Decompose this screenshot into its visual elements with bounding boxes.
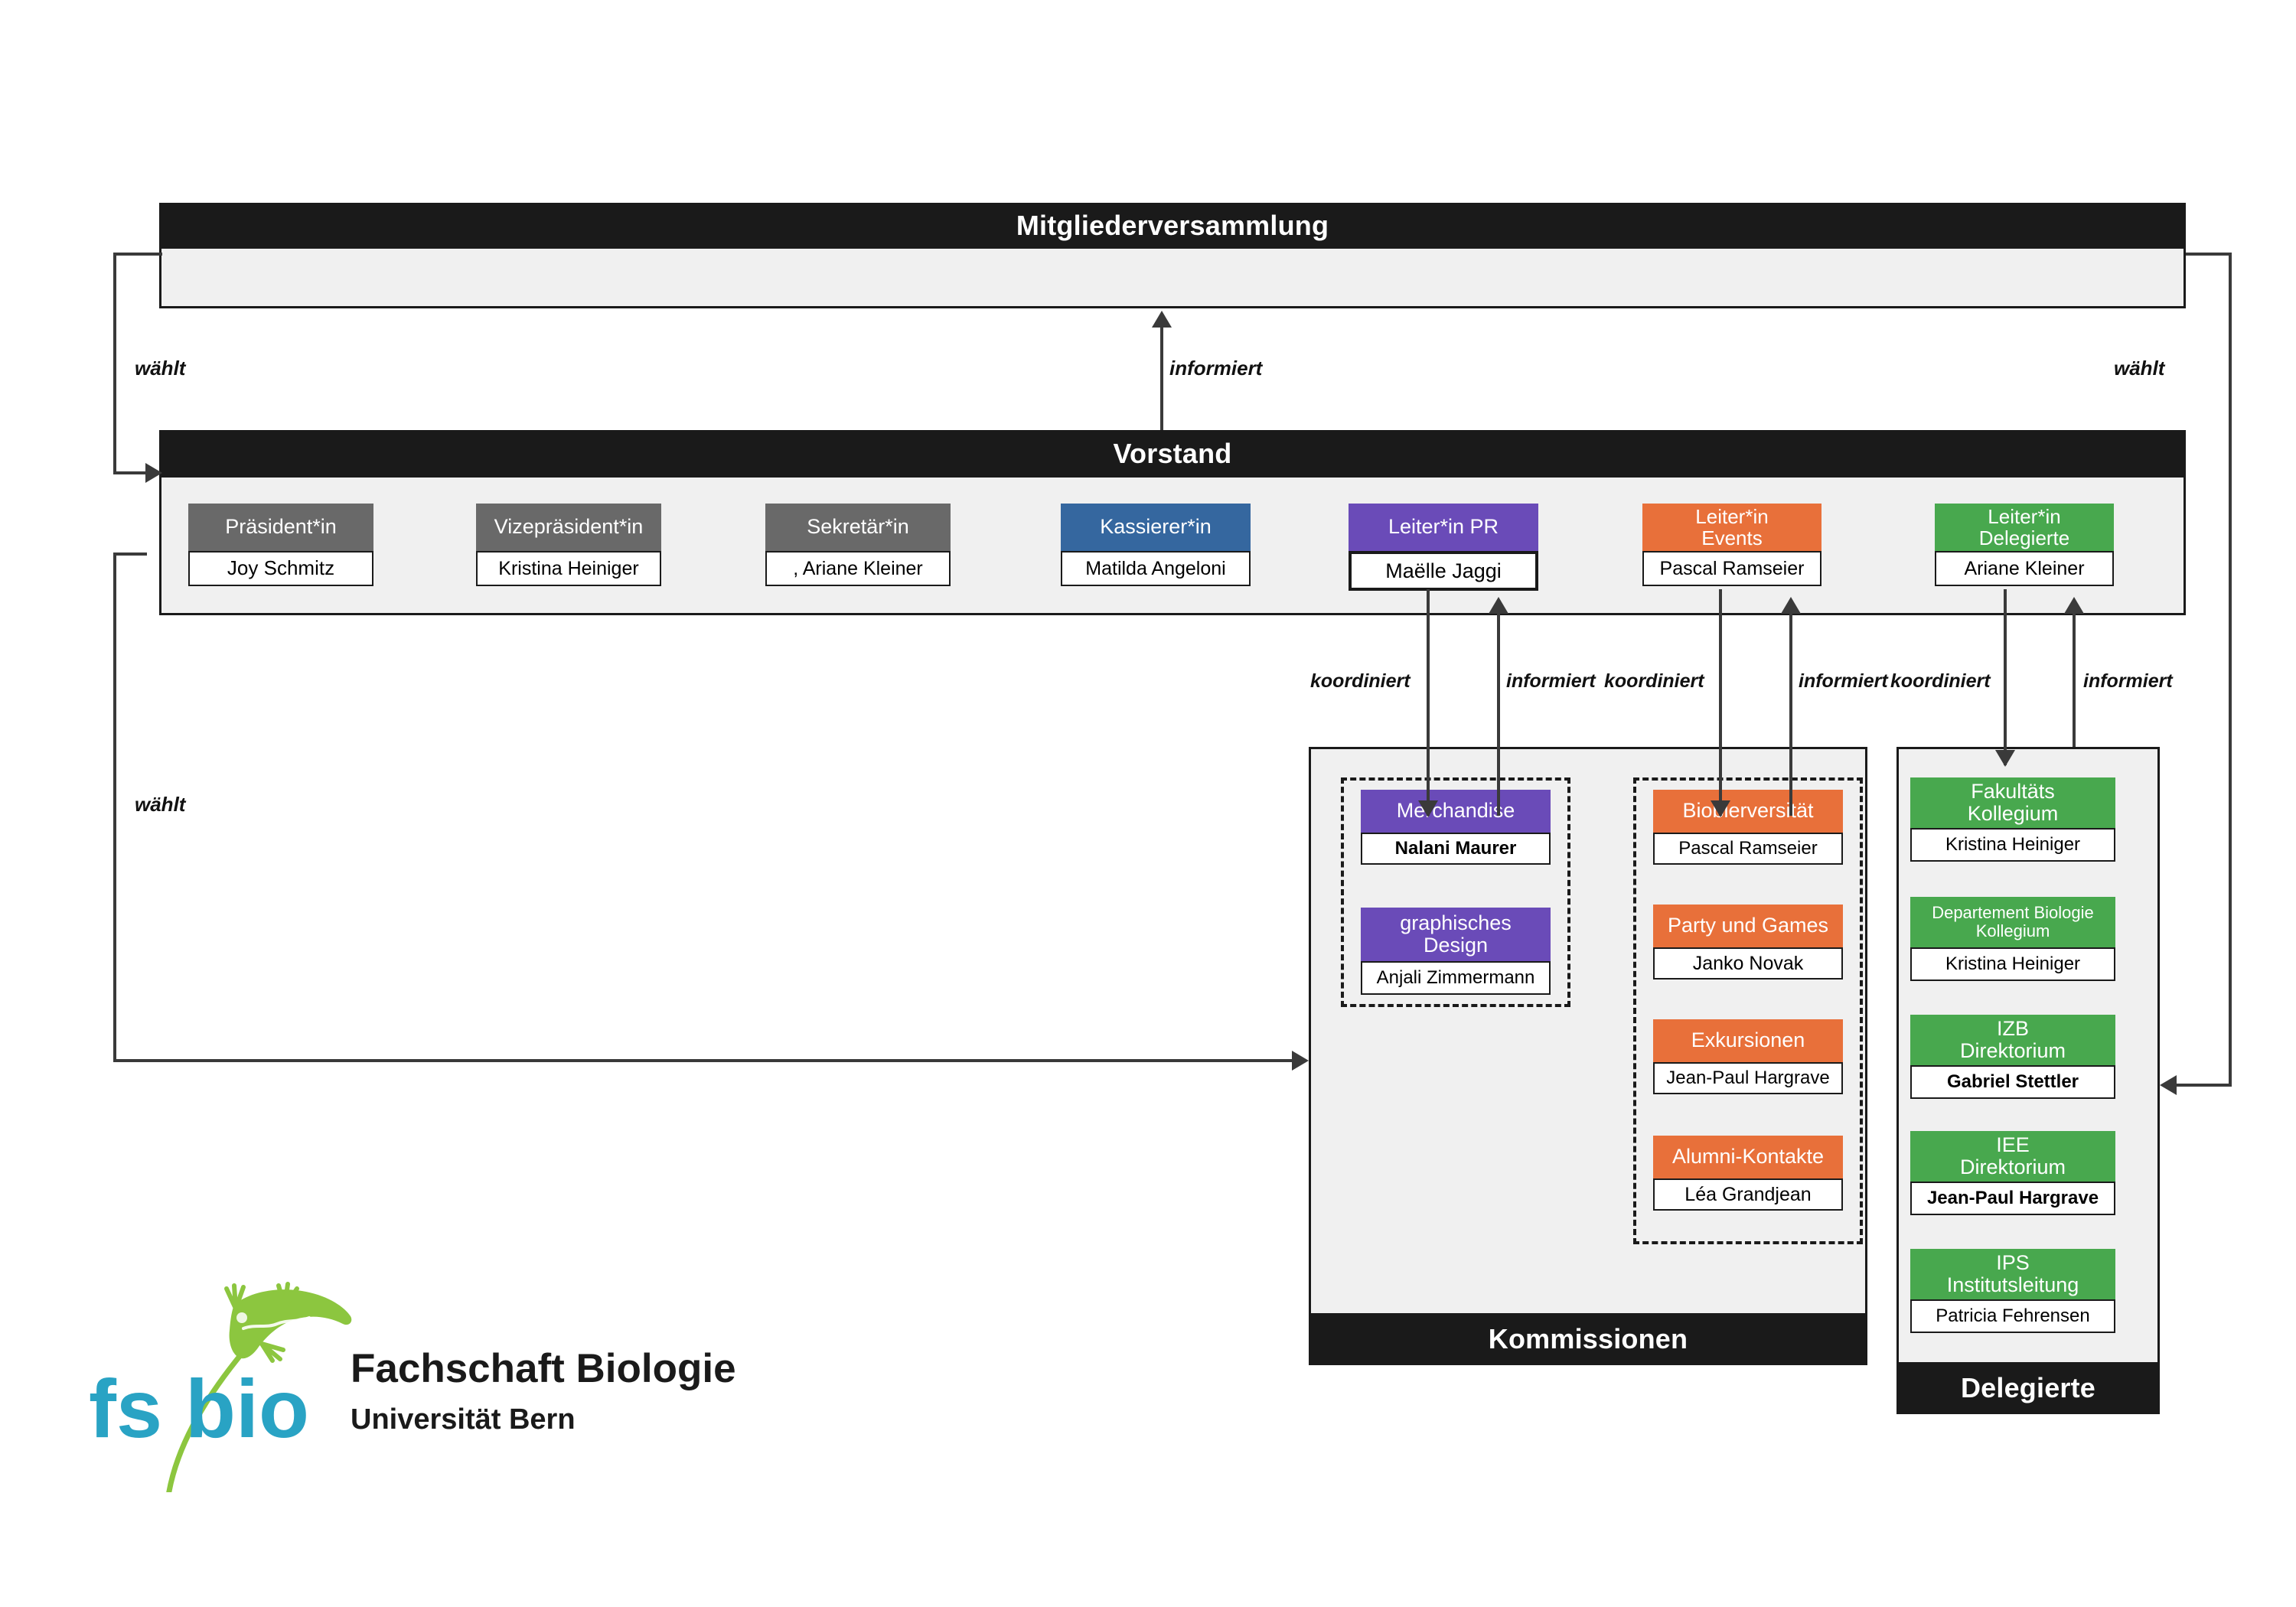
edge-informiert-top-arrow — [1152, 311, 1172, 328]
role-label: Exkursionen — [1653, 1019, 1843, 1062]
role-label: Leiter*in PR — [1349, 504, 1538, 551]
edge-label-waehlt-left-top: wählt — [135, 357, 185, 380]
person-name: Kristina Heiniger — [1910, 828, 2115, 862]
edge-label-waehlt-right: wählt — [2114, 357, 2164, 380]
person-name: Gabriel Stettler — [1910, 1065, 2115, 1099]
commission-graphic-design[interactable]: graphisches Design Anjali Zimmermann — [1361, 908, 1551, 995]
edge-label-informiert-top: informiert — [1169, 357, 1262, 380]
commission-party-und-games[interactable]: Party und Games Janko Novak — [1653, 905, 1843, 980]
edge-waehlt-bottom-seg-v — [113, 553, 116, 1062]
assembly-title: Mitgliederversammlung — [1016, 210, 1329, 242]
person-name: Jean-Paul Hargrave — [1653, 1062, 1843, 1094]
edge-informiert-pr-line — [1497, 612, 1500, 816]
edge-label-koordiniert-events: koordiniert — [1604, 670, 1704, 693]
edge-label-waehlt-bottom: wählt — [135, 793, 185, 817]
gecko-logo-icon: fs bio — [84, 1263, 375, 1492]
person-name: Ariane Kleiner — [1935, 551, 2114, 586]
person-name: Pascal Ramseier — [1653, 833, 1843, 865]
edge-waehlt-right-seg-h1 — [2186, 253, 2232, 256]
delegate-izb-direktorium[interactable]: IZB Direktorium Gabriel Stettler — [1910, 1015, 2115, 1099]
edge-waehlt-bottom-seg-h2 — [113, 1059, 1293, 1062]
edge-informiert-top-seg-v — [1160, 328, 1163, 430]
commissions-header: Kommissionen — [1309, 1313, 1867, 1365]
edge-waehlt-right-seg-h2 — [2177, 1084, 2232, 1087]
board-header: Vorstand — [159, 430, 2186, 478]
person-name: Janko Novak — [1653, 947, 1843, 980]
assembly-header: Mitgliederversammlung — [159, 203, 2186, 249]
edge-koordiniert-events-line — [1719, 589, 1722, 816]
person-name: Patricia Fehrensen — [1910, 1299, 2115, 1333]
edge-informiert-events-arrow — [1781, 597, 1801, 614]
board-member-pr-lead[interactable]: Leiter*in PR Maëlle Jaggi — [1349, 504, 1538, 586]
edge-informiert-pr-arrow — [1489, 597, 1508, 614]
role-label: Party und Games — [1653, 905, 1843, 947]
person-name: Pascal Ramseier — [1642, 551, 1821, 586]
delegate-departement-biologie-kollegium[interactable]: Departement Biologie Kollegium Kristina … — [1910, 897, 2115, 981]
fs-bio-logo: fs bio — [84, 1263, 375, 1492]
edge-koordiniert-pr-line — [1427, 589, 1430, 816]
board-member-events-lead[interactable]: Leiter*in Events Pascal Ramseier — [1642, 504, 1821, 586]
commission-alumni-kontakte[interactable]: Alumni-Kontakte Léa Grandjean — [1653, 1136, 1843, 1211]
delegate-fakultaets-kollegium[interactable]: Fakultäts Kollegium Kristina Heiniger — [1910, 777, 2115, 862]
board-member-secretary[interactable]: Sekretär*in , Ariane Kleiner — [765, 504, 951, 586]
role-label: graphisches Design — [1361, 908, 1551, 961]
role-label: Präsident*in — [188, 504, 373, 551]
role-label: Kassierer*in — [1061, 504, 1251, 551]
role-label: Alumni-Kontakte — [1653, 1136, 1843, 1178]
logo-org-name: Fachschaft Biologie — [351, 1345, 736, 1392]
edge-label-koordiniert-pr: koordiniert — [1310, 670, 1411, 693]
logo-wordmark: fs bio — [89, 1362, 309, 1455]
edge-informiert-events-line — [1789, 612, 1792, 816]
edge-waehlt-left-top-seg-h1 — [113, 253, 162, 256]
role-label: Leiter*in Delegierte — [1935, 504, 2114, 551]
person-name: Joy Schmitz — [188, 551, 373, 586]
edge-waehlt-right-seg-v — [2229, 253, 2232, 1087]
edge-label-informiert-delegates: informiert — [2083, 670, 2173, 693]
role-label: Departement Biologie Kollegium — [1910, 897, 2115, 947]
role-label: Fakultäts Kollegium — [1910, 777, 2115, 828]
edge-waehlt-bottom-arrow — [1292, 1051, 1309, 1071]
edge-koordiniert-delegates-line — [2004, 589, 2007, 765]
person-name: Kristina Heiniger — [1910, 947, 2115, 981]
role-label: Merchandise — [1361, 790, 1551, 833]
edge-koordiniert-pr-arrow — [1418, 800, 1438, 817]
edge-label-informiert-pr: informiert — [1506, 670, 1596, 693]
edge-waehlt-right-arrow — [2160, 1075, 2177, 1095]
edge-waehlt-bottom-seg-h1 — [113, 553, 147, 556]
commission-exkursionen[interactable]: Exkursionen Jean-Paul Hargrave — [1653, 1019, 1843, 1094]
logo-org-subtitle: Universität Bern — [351, 1403, 576, 1436]
edge-koordiniert-delegates-arrow — [1995, 750, 2015, 767]
role-label: Sekretär*in — [765, 504, 951, 551]
commission-biobierversitaet[interactable]: Biobierversität Pascal Ramseier — [1653, 790, 1843, 865]
role-label: IPS Institutsleitung — [1910, 1249, 2115, 1299]
commissions-title: Kommissionen — [1489, 1323, 1688, 1355]
person-name: Nalani Maurer — [1361, 833, 1551, 865]
edge-informiert-delegates-arrow — [2064, 597, 2084, 614]
edge-label-koordiniert-delegates: koordiniert — [1890, 670, 1991, 693]
person-name: Matilda Angeloni — [1061, 551, 1251, 586]
delegate-iee-direktorium[interactable]: IEE Direktorium Jean-Paul Hargrave — [1910, 1131, 2115, 1215]
person-name: Maëlle Jaggi — [1349, 551, 1538, 591]
edge-label-informiert-events: informiert — [1799, 670, 1888, 693]
edge-waehlt-left-top-seg-h2 — [113, 471, 147, 474]
assembly-body — [159, 249, 2186, 308]
board-member-delegates-lead[interactable]: Leiter*in Delegierte Ariane Kleiner — [1935, 504, 2114, 586]
board-member-treasurer[interactable]: Kassierer*in Matilda Angeloni — [1061, 504, 1251, 586]
board-member-vice-president[interactable]: Vizepräsident*in Kristina Heiniger — [476, 504, 661, 586]
role-label: Biobierversität — [1653, 790, 1843, 833]
person-name: Léa Grandjean — [1653, 1178, 1843, 1211]
commission-merchandise[interactable]: Merchandise Nalani Maurer — [1361, 790, 1551, 865]
person-name: Kristina Heiniger — [476, 551, 661, 586]
edge-waehlt-left-top-arrow — [145, 463, 162, 483]
delegates-header: Delegierte — [1896, 1362, 2160, 1414]
edge-koordiniert-events-arrow — [1711, 800, 1730, 817]
delegates-title: Delegierte — [1961, 1372, 2095, 1404]
board-member-president[interactable]: Präsident*in Joy Schmitz — [188, 504, 373, 586]
role-label: Vizepräsident*in — [476, 504, 661, 551]
edge-waehlt-left-top-seg-v — [113, 253, 116, 474]
org-chart-canvas: Mitgliederversammlung Vorstand Präsident… — [0, 0, 2296, 1607]
person-name: , Ariane Kleiner — [765, 551, 951, 586]
person-name: Anjali Zimmermann — [1361, 961, 1551, 995]
edge-informiert-delegates-line — [2073, 612, 2076, 747]
person-name: Jean-Paul Hargrave — [1910, 1182, 2115, 1215]
role-label: IZB Direktorium — [1910, 1015, 2115, 1065]
board-title: Vorstand — [1114, 438, 1232, 470]
delegate-ips-institutsleitung[interactable]: IPS Institutsleitung Patricia Fehrensen — [1910, 1249, 2115, 1333]
role-label: Leiter*in Events — [1642, 504, 1821, 551]
role-label: IEE Direktorium — [1910, 1131, 2115, 1182]
